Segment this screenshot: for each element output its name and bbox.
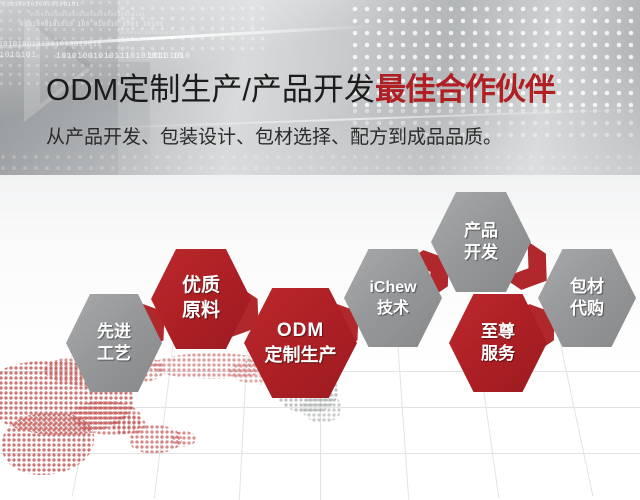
- grid-v-5: [396, 325, 409, 500]
- flow-node-line1: iChew: [369, 279, 416, 296]
- flow-node-line1: 包材: [570, 278, 604, 296]
- flow-node-line1: 优质: [182, 276, 220, 297]
- flow-node-line2: 技术: [377, 300, 409, 317]
- page-title-main: ODM定制生产/产品开发: [46, 72, 375, 107]
- flow-node-line2: 工艺: [97, 345, 131, 363]
- page-title: ODM定制生产/产品开发最佳合作伙伴: [46, 74, 555, 105]
- flow-node-line1: 先进: [97, 323, 131, 341]
- flow-node-line1: ODM: [277, 321, 324, 342]
- promo-banner: 0101001010010100101 01001010010100100101…: [0, 0, 640, 500]
- flow-node-line1: 产品: [464, 222, 498, 240]
- page-title-accent: 最佳合作伙伴: [375, 72, 555, 107]
- flow-node-line2: 代购: [570, 300, 604, 318]
- flow-node-line1: 至尊: [481, 323, 515, 341]
- grid-v-7: [556, 325, 593, 496]
- flow-node-line2: 开发: [464, 244, 498, 262]
- page-subtitle: 从产品开发、包装设计、包材选择、配方到成品品质。: [46, 128, 502, 147]
- flow-node-line2: 原料: [182, 301, 220, 322]
- flow-node-line2: 服务: [481, 345, 515, 363]
- flow-node-line2: 定制生产: [265, 346, 337, 365]
